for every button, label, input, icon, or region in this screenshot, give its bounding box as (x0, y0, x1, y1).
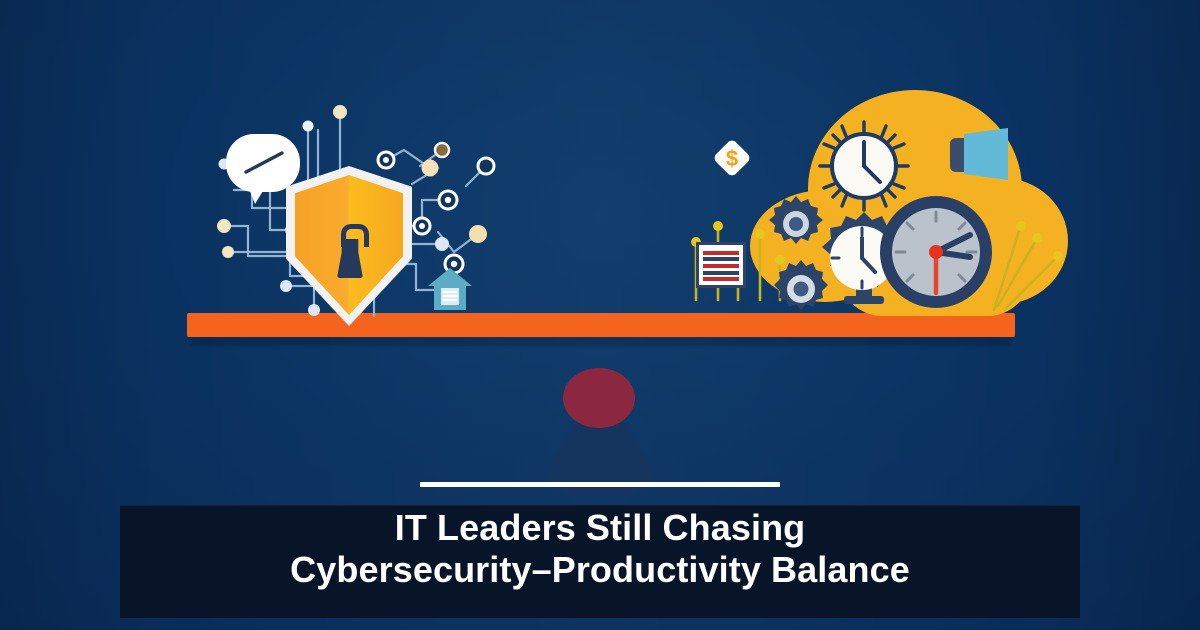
productivity-illustration-group: $ (690, 82, 1060, 316)
megaphone-icon (948, 128, 1012, 180)
gear-icon (768, 196, 824, 252)
banner-graphic: $ (0, 0, 1200, 630)
shield-lock-icon (286, 166, 412, 326)
svg-text:$: $ (726, 146, 738, 171)
house-icon (426, 266, 474, 312)
document-chart-icon (696, 242, 746, 288)
stopwatch-icon (878, 194, 994, 310)
title-line-1: IT Leaders Still Chasing (120, 507, 1080, 549)
title-line-2: Cybersecurity–Productivity Balance (120, 549, 1080, 591)
beam-shadow (191, 337, 1011, 346)
padlock-icon (335, 224, 365, 278)
pivot-knob (563, 368, 635, 428)
cybersecurity-illustration-group (190, 104, 510, 316)
title-divider-rule (420, 482, 780, 487)
title-bar: IT Leaders Still Chasing Cybersecurity–P… (120, 505, 1080, 618)
bubble-slash-mark (242, 150, 286, 176)
triangular-fulcrum (537, 368, 663, 498)
dollar-diamond-icon: $ (712, 138, 752, 178)
page-title: IT Leaders Still Chasing Cybersecurity–P… (120, 507, 1080, 592)
